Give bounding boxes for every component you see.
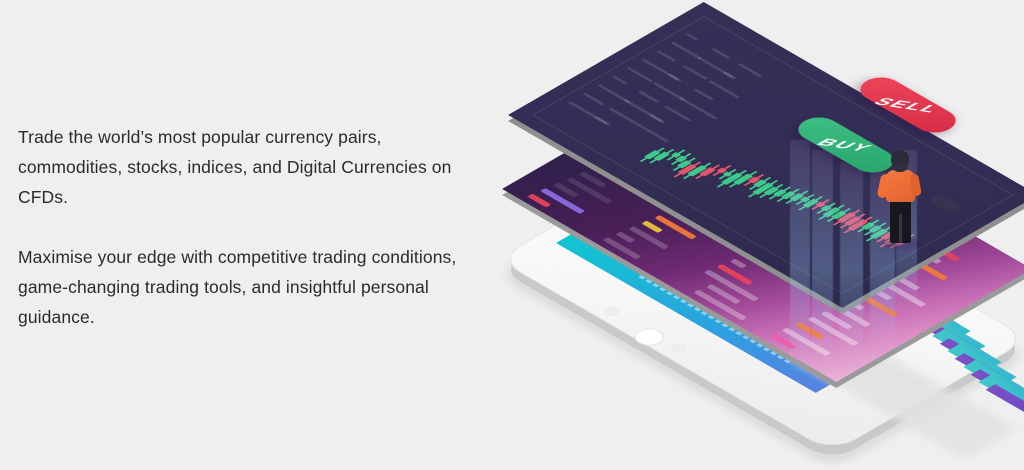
trader-person bbox=[878, 150, 924, 246]
person-hair bbox=[891, 150, 909, 165]
person-leg-gap bbox=[899, 214, 902, 243]
copy-paragraph-2: Maximise your edge with competitive trad… bbox=[18, 242, 488, 332]
trading-platform-illustration: BUY SELL bbox=[540, 0, 1024, 440]
marketing-copy: Trade the world’s most popular currency … bbox=[18, 122, 488, 332]
page-root: Trade the world’s most popular currency … bbox=[0, 0, 1024, 440]
copy-paragraph-1: Trade the world’s most popular currency … bbox=[18, 122, 488, 212]
illustration-stage: BUY SELL bbox=[540, 0, 1024, 440]
